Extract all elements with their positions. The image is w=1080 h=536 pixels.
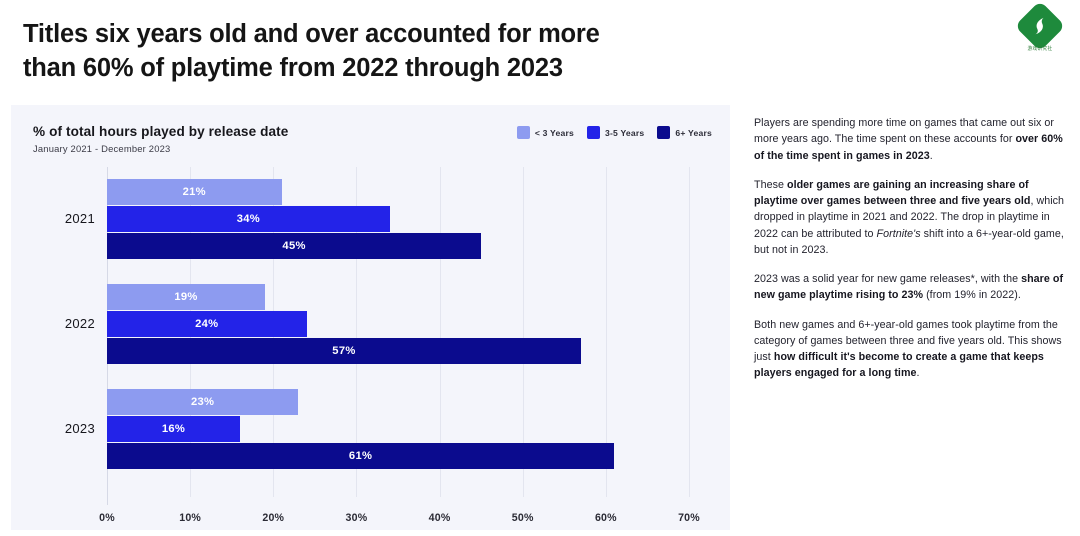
text-run-bold: older games are gaining an increasing sh… <box>754 179 1030 207</box>
legend-item-1[interactable]: 3-5 Years <box>587 126 644 139</box>
bar-2023-6-years[interactable]: 61% <box>107 443 614 469</box>
page-title-line-1: Titles six years old and over accounted … <box>23 18 703 52</box>
x-tick-10%: 10% <box>179 512 201 524</box>
bar-2021-3-5-years[interactable]: 34% <box>107 206 390 232</box>
chart-title: % of total hours played by release date <box>33 124 288 139</box>
chart-subtitle: January 2021 - December 2023 <box>33 143 170 154</box>
text-run-normal: These <box>754 179 787 191</box>
legend-item-2[interactable]: 6+ Years <box>657 126 712 139</box>
legend-label: 6+ Years <box>675 128 712 138</box>
x-tick-20%: 20% <box>262 512 284 524</box>
legend-item-0[interactable]: < 3 Years <box>517 126 574 139</box>
page-title: Titles six years old and over accounted … <box>23 18 703 85</box>
bar-2022-3-5-years[interactable]: 24% <box>107 311 307 337</box>
bar-value-label: 19% <box>174 291 197 303</box>
bar-2022-6-years[interactable]: 57% <box>107 338 581 364</box>
x-tick-30%: 30% <box>346 512 368 524</box>
text-run-normal: (from 19% in 2022). <box>923 289 1021 301</box>
legend-label: < 3 Years <box>535 128 574 138</box>
bar-2023--3-years[interactable]: 23% <box>107 389 298 415</box>
bar-value-label: 24% <box>195 318 218 330</box>
commentary-paragraph-p1: Players are spending more time on games … <box>754 115 1066 164</box>
x-axis-ticks: 0%10%20%30%40%50%60%70% <box>11 512 730 530</box>
bar-value-label: 34% <box>237 213 260 225</box>
text-run-normal: . <box>930 150 933 162</box>
plot-area: 202121%34%45%202219%24%57%202323%16%61% … <box>11 167 730 530</box>
chart-legend: < 3 Years3-5 Years6+ Years <box>517 126 712 139</box>
logo-swirl-icon <box>1029 15 1051 37</box>
logo-caption: 游戏研究社 <box>1028 46 1053 53</box>
commentary-paragraph-p4: Both new games and 6+-year-old games too… <box>754 317 1066 382</box>
x-tick-60%: 60% <box>595 512 617 524</box>
bar-2021--3-years[interactable]: 21% <box>107 179 282 205</box>
bar-value-label: 45% <box>282 240 305 252</box>
bar-group-2022: 202219%24%57% <box>11 284 730 364</box>
bar-value-label: 23% <box>191 396 214 408</box>
bar-2023-3-5-years[interactable]: 16% <box>107 416 240 442</box>
legend-label: 3-5 Years <box>605 128 644 138</box>
bar-2021-6-years[interactable]: 45% <box>107 233 481 259</box>
text-run-normal: . <box>917 367 920 379</box>
y-axis-label-2023: 2023 <box>11 421 95 436</box>
x-tick-0%: 0% <box>99 512 115 524</box>
x-tick-40%: 40% <box>429 512 451 524</box>
text-run-normal: Players are spending more time on games … <box>754 117 1054 145</box>
bar-value-label: 21% <box>183 186 206 198</box>
y-axis-label-2022: 2022 <box>11 316 95 331</box>
bar-value-label: 57% <box>332 345 355 357</box>
green-diamond-logo-icon <box>1015 1 1066 52</box>
bar-group-2021: 202121%34%45% <box>11 179 730 259</box>
text-run-bold: how difficult it's become to create a ga… <box>754 351 1044 379</box>
bar-value-label: 16% <box>162 423 185 435</box>
bar-groups: 202121%34%45%202219%24%57%202323%16%61% <box>11 167 730 497</box>
commentary-panel: Players are spending more time on games … <box>754 115 1066 395</box>
bar-value-label: 61% <box>349 450 372 462</box>
commentary-paragraph-p2: These older games are gaining an increas… <box>754 177 1066 258</box>
page-title-line-2: than 60% of playtime from 2022 through 2… <box>23 52 703 86</box>
chart-panel: % of total hours played by release date … <box>11 105 730 530</box>
text-run-italic: Fortnite's <box>877 228 921 240</box>
legend-swatch-icon <box>517 126 530 139</box>
legend-swatch-icon <box>587 126 600 139</box>
x-tick-50%: 50% <box>512 512 534 524</box>
text-run-normal: 2023 was a solid year for new game relea… <box>754 273 1021 285</box>
y-axis-label-2021: 2021 <box>11 211 95 226</box>
infographic-root: Titles six years old and over accounted … <box>0 0 1080 536</box>
x-tick-70%: 70% <box>678 512 700 524</box>
bar-2022--3-years[interactable]: 19% <box>107 284 265 310</box>
bar-group-2023: 202323%16%61% <box>11 389 730 469</box>
brand-logo: 游戏研究社 <box>1014 8 1066 58</box>
legend-swatch-icon <box>657 126 670 139</box>
commentary-paragraph-p3: 2023 was a solid year for new game relea… <box>754 271 1066 304</box>
